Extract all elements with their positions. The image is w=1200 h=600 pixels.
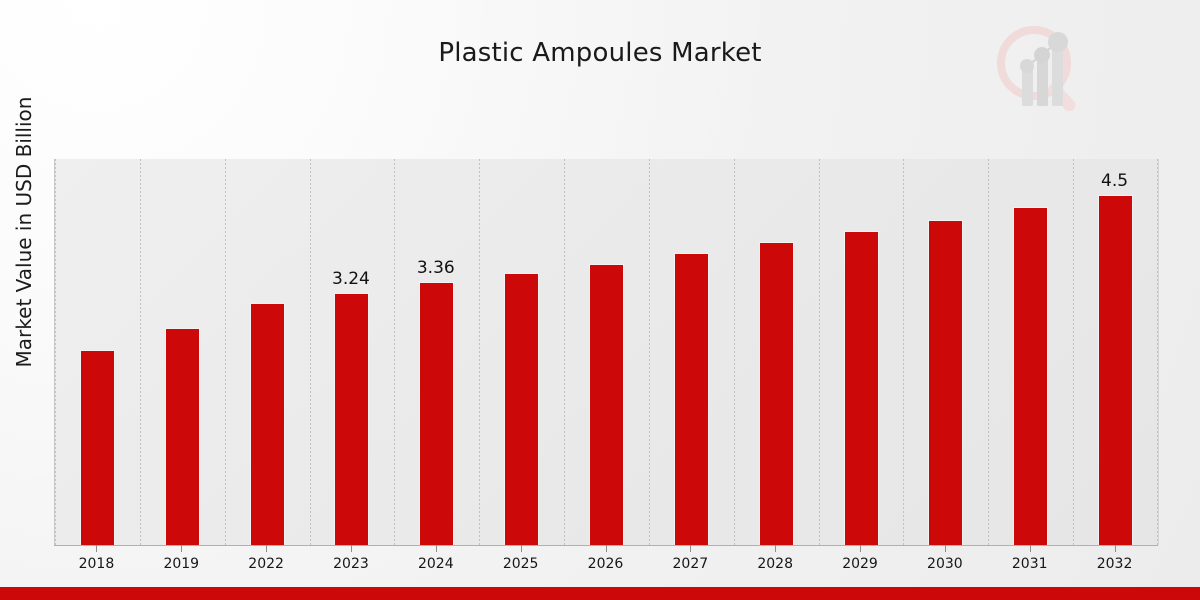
- bar-value-label-2024: 3.36: [417, 258, 455, 278]
- bar-2032[interactable]: [1098, 195, 1133, 545]
- bar-2025[interactable]: [504, 273, 539, 545]
- x-tick-2032: [1115, 545, 1116, 552]
- x-tick-2025: [521, 545, 522, 552]
- gridline: [1157, 159, 1158, 545]
- bar-2018[interactable]: [80, 350, 115, 545]
- bar-2022[interactable]: [250, 303, 285, 545]
- plot-area: [54, 159, 1159, 545]
- x-tick-2026: [606, 545, 607, 552]
- x-tick-2027: [690, 545, 691, 552]
- gridline: [1073, 159, 1074, 545]
- x-axis-label-2032: 2032: [1097, 556, 1133, 572]
- bar-2026[interactable]: [589, 264, 624, 545]
- x-tick-2028: [775, 545, 776, 552]
- bar-2031[interactable]: [1013, 207, 1048, 545]
- bar-2027[interactable]: [674, 253, 709, 545]
- x-axis-label-2029: 2029: [842, 556, 878, 572]
- bar-2029[interactable]: [844, 231, 879, 545]
- x-tick-2030: [945, 545, 946, 552]
- gridline: [649, 159, 650, 545]
- bar-2024[interactable]: [419, 282, 454, 545]
- y-axis-title: Market Value in USD Billion: [12, 12, 36, 452]
- chart-page: Plastic Ampoules Market Market Value in …: [0, 0, 1200, 600]
- x-axis-label-2030: 2030: [927, 556, 963, 572]
- x-axis-label-2024: 2024: [418, 556, 454, 572]
- gridline: [903, 159, 904, 545]
- gridline: [819, 159, 820, 545]
- gridline: [564, 159, 565, 545]
- magnifier-bar-chart-logo-icon: [988, 18, 1092, 122]
- x-axis-label-2018: 2018: [79, 556, 115, 572]
- x-axis-label-2019: 2019: [163, 556, 199, 572]
- bar-2028[interactable]: [759, 242, 794, 546]
- x-axis-label-2028: 2028: [757, 556, 793, 572]
- bar-value-label-2032: 4.5: [1101, 171, 1128, 191]
- x-tick-2031: [1030, 545, 1031, 552]
- gridline: [479, 159, 480, 545]
- x-tick-2023: [351, 545, 352, 552]
- gridline: [140, 159, 141, 545]
- bar-2030[interactable]: [928, 220, 963, 545]
- x-tick-2018: [96, 545, 97, 552]
- gridline: [225, 159, 226, 545]
- bar-value-label-2023: 3.24: [332, 269, 370, 289]
- gridline: [988, 159, 989, 545]
- x-axis-label-2022: 2022: [248, 556, 284, 572]
- x-axis-label-2031: 2031: [1012, 556, 1048, 572]
- x-axis-label-2025: 2025: [503, 556, 539, 572]
- x-tick-2022: [266, 545, 267, 552]
- bar-2023[interactable]: [334, 293, 369, 545]
- gridline: [734, 159, 735, 545]
- footer-band: [0, 587, 1200, 600]
- x-axis-label-2027: 2027: [673, 556, 709, 572]
- bar-2019[interactable]: [165, 328, 200, 545]
- gridline: [394, 159, 395, 545]
- gridline: [55, 159, 56, 545]
- x-tick-2029: [860, 545, 861, 552]
- x-tick-2024: [436, 545, 437, 552]
- gridline: [310, 159, 311, 545]
- x-axis-label-2023: 2023: [333, 556, 369, 572]
- x-axis-label-2026: 2026: [588, 556, 624, 572]
- x-tick-2019: [181, 545, 182, 552]
